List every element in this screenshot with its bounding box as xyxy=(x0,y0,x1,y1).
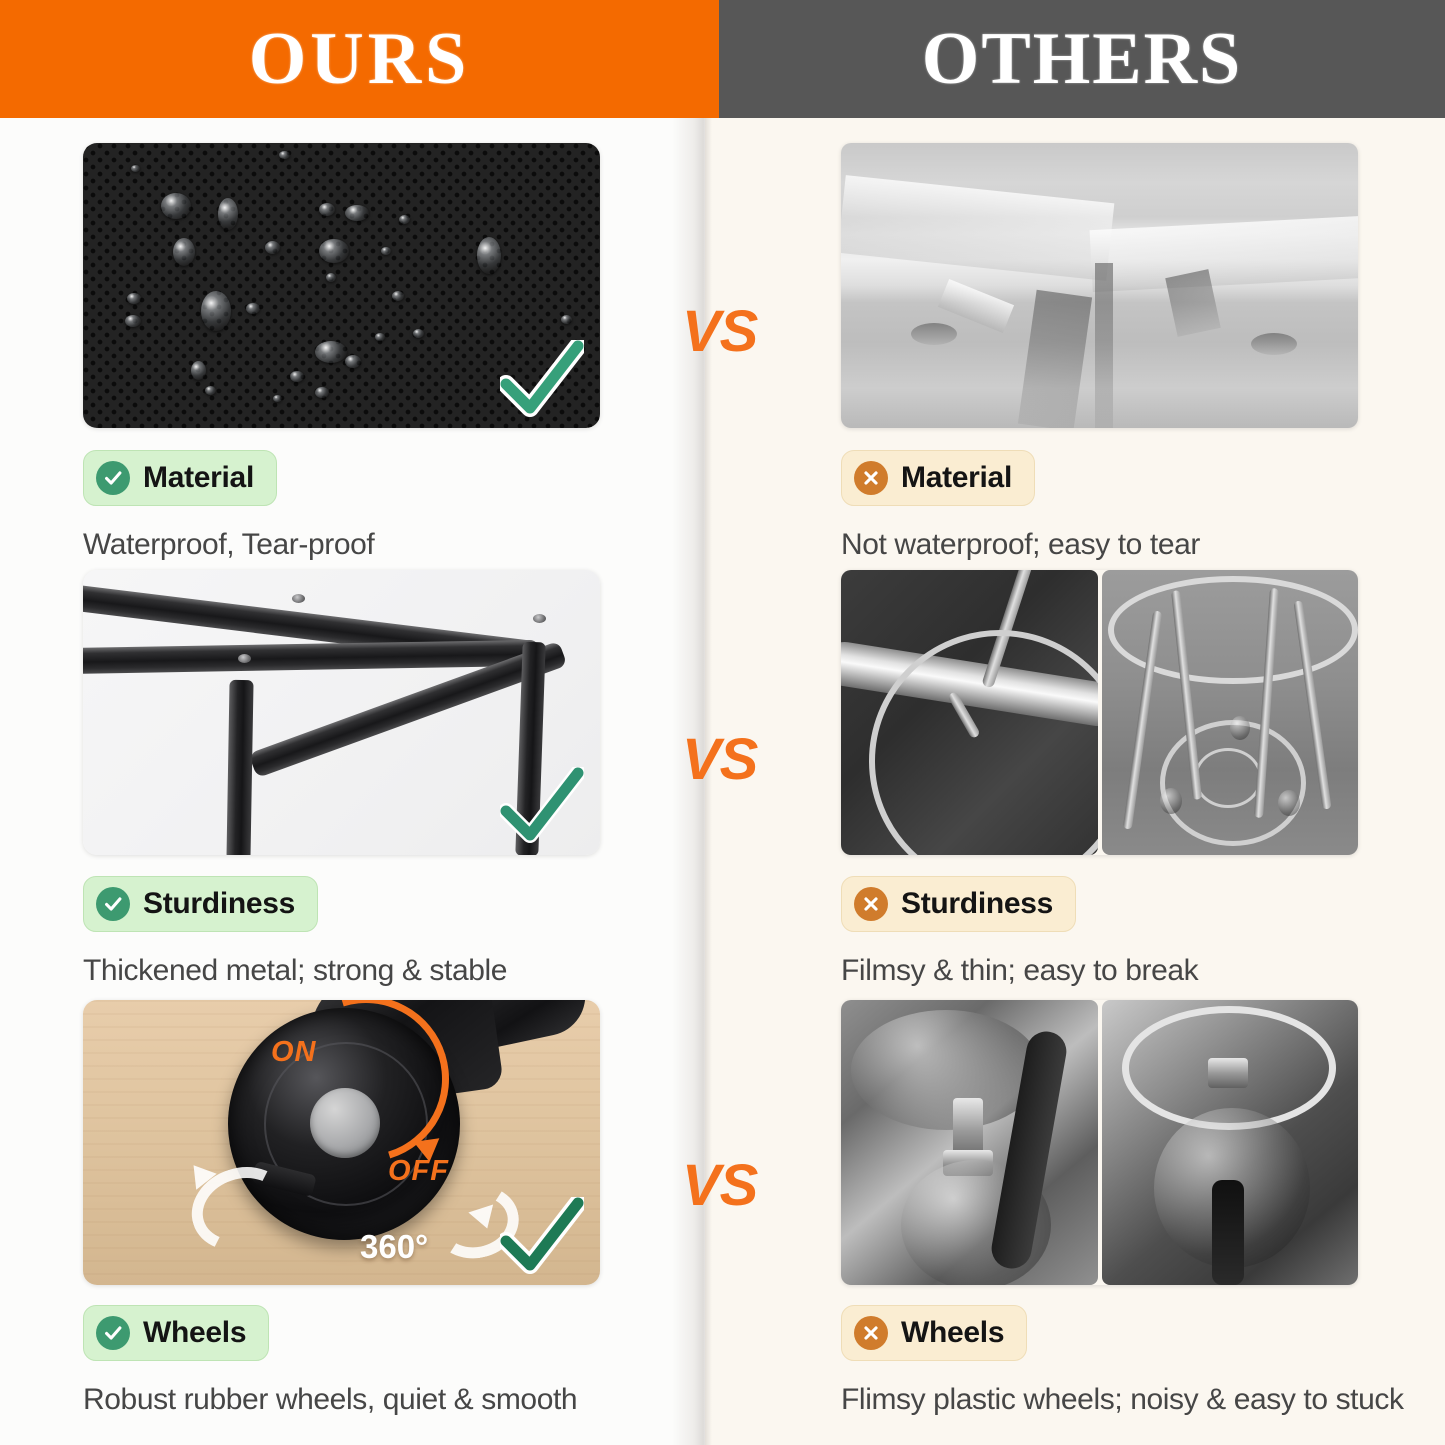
thick-black-metal-frame-photo xyxy=(83,570,600,855)
badge-ours-wheels-label: Wheels xyxy=(143,1318,246,1348)
x-circle-icon xyxy=(854,461,888,495)
others-wheels-image-wrap xyxy=(841,1000,1358,1285)
badge-others-sturdiness-label: Sturdiness xyxy=(901,889,1053,919)
badge-ours-material: Material xyxy=(83,450,277,506)
comparison-infographic: OURS OTHERS VS VS VS xyxy=(0,0,1445,1445)
header-bar: OURS OTHERS xyxy=(0,0,1445,118)
green-check-mark-icon xyxy=(500,767,584,845)
label-on: ON xyxy=(271,1036,317,1069)
header-ours-title: OURS xyxy=(249,22,471,96)
caption-ours-sturdiness: Thickened metal; strong & stable xyxy=(83,954,507,987)
ours-material-image-wrap xyxy=(83,143,600,428)
badge-ours-material-label: Material xyxy=(143,463,254,493)
badge-ours-sturdiness-label: Sturdiness xyxy=(143,889,295,919)
ours-sturdiness-image-wrap xyxy=(83,570,600,855)
x-circle-icon xyxy=(854,887,888,921)
caption-others-material: Not waterproof; easy to tear xyxy=(841,528,1200,561)
ours-wheels-feature: Wheels Robust rubber wheels, quiet & smo… xyxy=(83,1305,577,1416)
white-fabric-texture xyxy=(841,143,1358,428)
thin-wire-frame-photos xyxy=(841,570,1358,855)
wire-cart-frame-photo xyxy=(1102,570,1359,855)
header-others-title: OTHERS xyxy=(922,22,1242,96)
ours-sturdiness-feature: Sturdiness Thickened metal; strong & sta… xyxy=(83,876,507,987)
caption-ours-wheels: Robust rubber wheels, quiet & smooth xyxy=(83,1383,577,1416)
badge-others-material-label: Material xyxy=(901,463,1012,493)
others-material-image-wrap xyxy=(841,143,1358,428)
waterproof-black-perforated-fabric-photo xyxy=(83,143,600,428)
badge-ours-wheels: Wheels xyxy=(83,1305,269,1361)
caption-others-wheels: Flimsy plastic wheels; noisy & easy to s… xyxy=(841,1383,1404,1416)
vs-label-sturdiness: VS xyxy=(682,726,757,793)
badge-others-material: Material xyxy=(841,450,1035,506)
green-check-mark-icon xyxy=(500,1197,584,1275)
rubber-caster-wheel-photo: ON OFF 360° xyxy=(83,1000,600,1285)
green-check-mark-icon xyxy=(500,340,584,418)
others-wheels-feature: Wheels Flimsy plastic wheels; noisy & ea… xyxy=(841,1305,1404,1416)
caption-ours-material: Waterproof, Tear-proof xyxy=(83,528,374,561)
badge-ours-sturdiness: Sturdiness xyxy=(83,876,318,932)
check-circle-icon xyxy=(96,1316,130,1350)
others-material-feature: Material Not waterproof; easy to tear xyxy=(841,450,1200,561)
header-ours: OURS xyxy=(0,0,719,118)
split-image-pair xyxy=(841,570,1358,855)
x-circle-icon xyxy=(854,1316,888,1350)
ours-material-feature: Material Waterproof, Tear-proof xyxy=(83,450,374,561)
vs-label-material: VS xyxy=(682,298,757,365)
others-sturdiness-feature: Sturdiness Filmsy & thin; easy to break xyxy=(841,876,1198,987)
check-circle-icon xyxy=(96,461,130,495)
header-others: OTHERS xyxy=(719,0,1445,118)
white-thin-fabric-photo xyxy=(841,143,1358,428)
plastic-wheel-mount-photo xyxy=(841,1000,1098,1285)
others-sturdiness-image-wrap xyxy=(841,570,1358,855)
check-circle-icon xyxy=(96,887,130,921)
caption-others-sturdiness: Filmsy & thin; easy to break xyxy=(841,954,1198,987)
badge-others-wheels: Wheels xyxy=(841,1305,1027,1361)
label-360-rotation: 360° xyxy=(360,1228,428,1266)
plastic-wheel-underside-photo xyxy=(1102,1000,1359,1285)
plastic-wheel-photos xyxy=(841,1000,1358,1285)
split-image-pair xyxy=(841,1000,1358,1285)
thin-tube-joint-photo xyxy=(841,570,1098,855)
vs-label-wheels: VS xyxy=(682,1152,757,1219)
ours-wheels-image-wrap: ON OFF 360° xyxy=(83,1000,600,1285)
label-off: OFF xyxy=(388,1155,449,1188)
badge-others-sturdiness: Sturdiness xyxy=(841,876,1076,932)
badge-others-wheels-label: Wheels xyxy=(901,1318,1004,1348)
